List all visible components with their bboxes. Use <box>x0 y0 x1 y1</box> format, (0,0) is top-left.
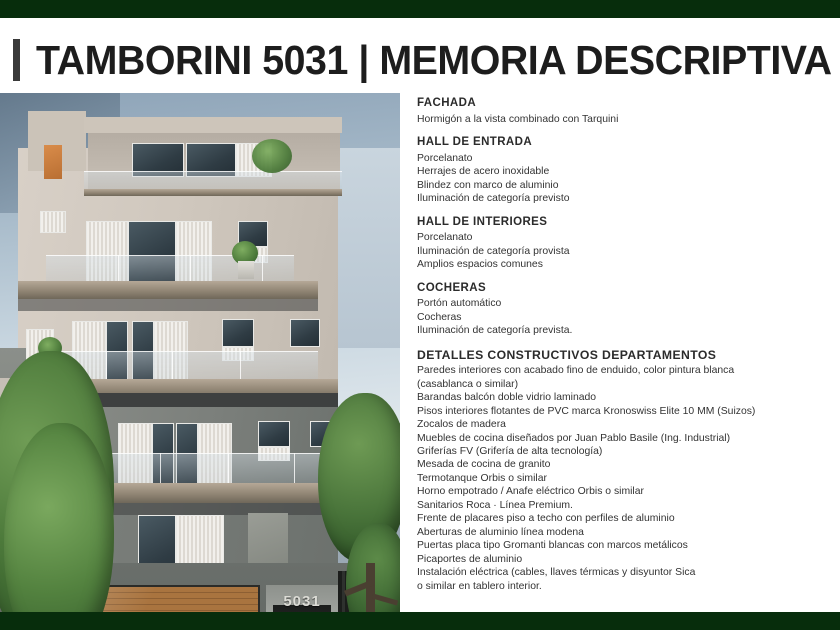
balcony-railing <box>100 453 338 483</box>
section-line: Picaportes de aluminio <box>417 553 817 566</box>
accent-panel <box>44 145 62 179</box>
section-line: Instalación eléctrica (cables, llaves té… <box>417 566 817 579</box>
section-line: Iluminación de categoría provista <box>417 245 817 259</box>
spec-section-cocheras: COCHERAS Portón automático Cocheras Ilum… <box>417 281 817 338</box>
section-line: Zocalos de madera <box>417 418 817 431</box>
page-title: TAMBORINI 5031 | MEMORIA DESCRIPTIVA <box>0 34 840 86</box>
section-line: Puertas placa tipo Gromanti blancas con … <box>417 539 817 552</box>
window-glass <box>222 319 254 347</box>
window-glass <box>290 319 320 347</box>
section-heading: DETALLES CONSTRUCTIVOS DEPARTAMENTOS <box>417 347 817 363</box>
window-curtain <box>40 211 66 233</box>
section-line: Termotanque Orbis o similar <box>417 472 817 485</box>
section-line: Hormigón a la vista combinado con Tarqui… <box>417 113 817 127</box>
section-heading: COCHERAS <box>417 281 817 297</box>
section-line: Aberturas de aluminio línea modena <box>417 526 817 539</box>
section-line: Frente de placares piso a techo con perf… <box>417 512 817 525</box>
window-glass <box>258 421 290 447</box>
section-line: Barandas balcón doble vidrio laminado <box>417 391 817 404</box>
section-line: Griferías FV (Grifería de alta tecnologí… <box>417 445 817 458</box>
section-line: Porcelanato <box>417 231 817 245</box>
railing-post <box>228 453 229 483</box>
section-heading: HALL DE INTERIORES <box>417 215 817 231</box>
section-line: Herrajes de acero inoxidable <box>417 165 817 179</box>
section-line: Blindez con marco de aluminio <box>417 179 817 193</box>
railing-post <box>294 453 295 483</box>
section-line: (casablanca o similar) <box>417 378 817 391</box>
railing-post <box>190 255 191 281</box>
section-line: Muebles de cocina diseñados por Juan Pab… <box>417 432 817 445</box>
title-accent-bar <box>13 39 20 81</box>
railing-post <box>106 351 107 379</box>
balcony-railing <box>46 255 294 281</box>
plant-pot <box>238 261 254 279</box>
section-line: Cocheras <box>417 311 817 325</box>
spec-section-hall-de-interiores: HALL DE INTERIORES Porcelanato Iluminaci… <box>417 215 817 272</box>
floor-slab <box>18 281 318 299</box>
section-line: Portón automático <box>417 297 817 311</box>
spec-list: FACHADA Hormigón a la vista combinado co… <box>417 96 817 602</box>
bottom-band <box>0 612 840 630</box>
roof-plant <box>252 139 292 173</box>
spec-section-detalles-constructivos: DETALLES CONSTRUCTIVOS DEPARTAMENTOS Par… <box>417 347 817 593</box>
railing-post <box>118 255 119 281</box>
roof-parapet <box>84 117 342 133</box>
top-band <box>0 0 840 18</box>
section-line: Pisos interiores flotantes de PVC marca … <box>417 405 817 418</box>
railing-post <box>240 351 241 379</box>
railing-post <box>160 453 161 483</box>
spec-section-fachada: FACHADA Hormigón a la vista combinado co… <box>417 96 817 126</box>
section-line: Porcelanato <box>417 152 817 166</box>
section-line: Horno empotrado / Anafe eléctrico Orbis … <box>417 485 817 498</box>
building-facade-photo: 5031 <box>0 93 400 612</box>
section-line: o similar en tablero interior. <box>417 580 817 593</box>
section-line: Mesada de cocina de granito <box>417 458 817 471</box>
section-heading: HALL DE ENTRADA <box>417 135 817 151</box>
floor-slab <box>84 189 342 196</box>
section-heading: FACHADA <box>417 96 817 112</box>
railing-post <box>262 255 263 281</box>
street-number: 5031 <box>277 593 327 610</box>
slab-soffit <box>18 299 318 311</box>
section-line: Amplios espacios comunes <box>417 258 817 272</box>
page-title-text: TAMBORINI 5031 | MEMORIA DESCRIPTIVA <box>36 40 832 81</box>
railing-post <box>172 351 173 379</box>
section-line: Sanitarios Roca · Línea Premium. <box>417 499 817 512</box>
section-line: Iluminación de categoría prevista. <box>417 324 817 338</box>
page-root: TAMBORINI 5031 | MEMORIA DESCRIPTIVA <box>0 0 840 630</box>
section-line: Paredes interiores con acabado fino de e… <box>417 364 817 377</box>
section-line: Iluminación de categoría previsto <box>417 192 817 206</box>
balcony-railing <box>84 171 342 189</box>
spec-section-hall-de-entrada: HALL DE ENTRADA Porcelanato Herrajes de … <box>417 135 817 206</box>
